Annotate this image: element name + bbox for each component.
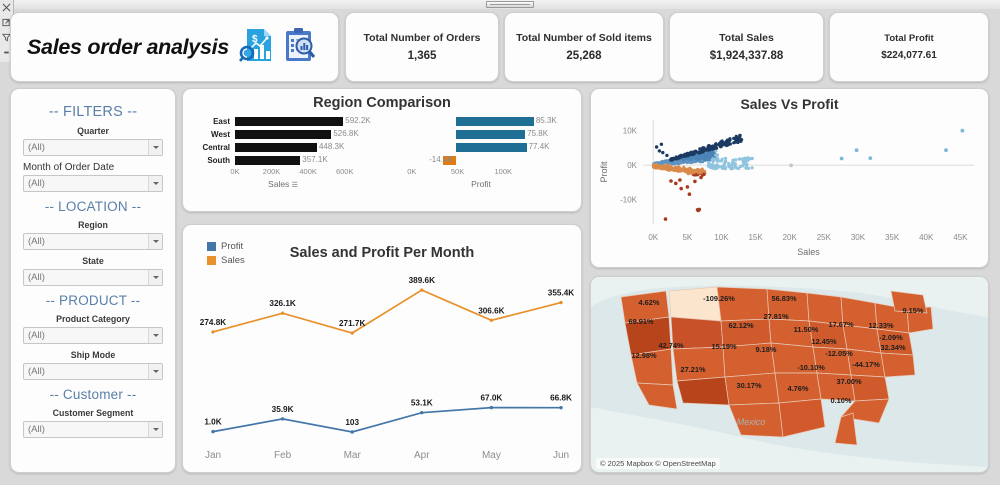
axis-tick: 50K xyxy=(451,167,464,176)
data-point xyxy=(679,187,683,191)
bar-track: 75.8K xyxy=(433,130,573,139)
data-point xyxy=(732,159,735,162)
axis-tick-label: Feb xyxy=(274,450,292,461)
filter-select-state[interactable]: (All) xyxy=(23,269,163,286)
data-point xyxy=(716,157,719,160)
map-value-label: 12.33% xyxy=(868,321,893,330)
y-axis-label: Profit xyxy=(599,161,609,183)
data-point xyxy=(420,411,423,414)
filter-select-month-of-order-date[interactable]: (All) xyxy=(23,175,163,192)
bar-row[interactable]: South 357.1K xyxy=(191,154,375,166)
data-point xyxy=(559,406,562,409)
chevron-down-icon[interactable] xyxy=(148,270,162,285)
kpi-card-sold-items: Total Number of Sold items 25,268 xyxy=(504,12,664,82)
data-point xyxy=(678,178,682,182)
bar-value-label: -14.4K xyxy=(429,155,453,164)
data-point xyxy=(714,154,717,157)
x-axis-tick: 20K xyxy=(783,233,798,242)
map-value-label: 32.34% xyxy=(880,343,905,352)
line-chart-svg: 274.8K326.1K271.7K389.6K306.6K355.4K1.0K… xyxy=(183,261,581,466)
data-point xyxy=(707,163,710,166)
filter-value-customer-segment: (All) xyxy=(28,424,45,435)
data-point xyxy=(711,157,714,160)
filters-panel: -- FILTERS -- Quarter (All) Month of Ord… xyxy=(10,88,176,473)
data-point xyxy=(709,155,712,158)
data-label: 35.9K xyxy=(272,405,294,414)
map-value-label: -44.17% xyxy=(852,360,880,369)
data-point xyxy=(658,149,661,152)
bar-track: 448.3K xyxy=(235,143,375,152)
map-value-label: 69.91% xyxy=(628,317,653,326)
data-point xyxy=(697,172,700,175)
map-value-label: 12.45% xyxy=(811,337,836,346)
data-point xyxy=(728,139,731,142)
data-point xyxy=(944,148,948,152)
map-value-label: 15.19% xyxy=(711,342,736,351)
data-point xyxy=(655,166,658,169)
bar[interactable] xyxy=(456,130,525,139)
data-point xyxy=(669,166,672,169)
bar-track: 77.4K xyxy=(433,143,573,152)
data-point xyxy=(675,155,678,158)
bar-category-label: East xyxy=(191,117,235,126)
bar[interactable] xyxy=(235,130,331,139)
bar-row[interactable]: Central 448.3K xyxy=(191,141,375,153)
x-axis-tick: 5K xyxy=(682,233,692,242)
map-value-label: 4.62% xyxy=(639,298,660,307)
bar[interactable] xyxy=(235,117,343,126)
data-point xyxy=(692,159,695,162)
data-point xyxy=(868,156,872,160)
data-point xyxy=(690,161,693,164)
map-svg: Mexico4.62%-109.26%56.83%69.91%62.12%27.… xyxy=(591,277,988,472)
map-state[interactable] xyxy=(673,347,725,381)
data-point xyxy=(739,134,742,137)
data-point xyxy=(702,153,705,156)
horizontal-scrollbar[interactable] xyxy=(14,0,1000,9)
filter-label-product-category: Product Category xyxy=(23,314,163,324)
filter-select-product-category[interactable]: (All) xyxy=(23,327,163,344)
data-point xyxy=(686,161,689,164)
data-point xyxy=(741,164,744,167)
bar-row[interactable]: -14.4K xyxy=(389,154,573,166)
region-comparison-chart: Region Comparison East 592.2K West 526.8… xyxy=(182,88,582,212)
sales-report-chart-icon: $ xyxy=(239,26,275,69)
data-point xyxy=(674,161,677,164)
line-plot-area: 274.8K326.1K271.7K389.6K306.6K355.4K1.0K… xyxy=(183,261,581,471)
axis-tick: 400K xyxy=(299,167,317,176)
axis-tick-label: Apr xyxy=(414,450,430,461)
data-point xyxy=(685,153,688,156)
data-point xyxy=(723,164,726,167)
filter-label-month-of-order-date: Month of Order Date xyxy=(23,162,163,173)
map-state[interactable] xyxy=(717,287,769,321)
data-point xyxy=(711,146,714,149)
y-axis-tick: 10K xyxy=(623,126,638,135)
data-point xyxy=(703,170,706,173)
x-axis-tick: 45K xyxy=(953,233,968,242)
filter-label-customer-segment: Customer Segment xyxy=(23,408,163,418)
data-label: 355.4K xyxy=(548,289,574,298)
filter-select-customer-segment[interactable]: (All) xyxy=(23,421,163,438)
chevron-down-icon[interactable] xyxy=(148,422,162,437)
scatter-plot-area: 10K0K-10K0K5K10K15K20K25K30K35K40K45KSal… xyxy=(591,112,988,269)
data-point xyxy=(751,166,754,169)
map-value-label: 9.15% xyxy=(903,306,924,315)
chart-title: Region Comparison xyxy=(183,89,581,111)
sales-profit-per-month-chart: Profit Sales Sales and Profit Per Month … xyxy=(182,224,582,473)
map-value-label: -109.26% xyxy=(703,294,735,303)
data-point xyxy=(686,185,690,189)
data-point xyxy=(698,169,701,172)
data-point xyxy=(660,143,663,146)
data-label: 103 xyxy=(345,418,359,427)
data-point xyxy=(737,167,740,170)
map-value-label: -2.09% xyxy=(879,333,903,342)
data-point xyxy=(671,157,674,160)
kpi-value: $1,924,337.88 xyxy=(710,50,784,62)
y-axis-tick: -10K xyxy=(620,196,638,205)
data-point xyxy=(673,169,676,172)
bar-row[interactable]: East 592.2K xyxy=(191,115,375,127)
axis-tick: 0K xyxy=(407,167,416,176)
data-point xyxy=(490,406,493,409)
data-point xyxy=(661,151,664,154)
axis-tick: 200K xyxy=(263,167,281,176)
data-label: 306.6K xyxy=(478,306,504,315)
data-point xyxy=(351,430,354,433)
bar-axis: 0K200K400K600K xyxy=(191,167,375,180)
bar[interactable] xyxy=(235,143,317,152)
bar-track: 526.8K xyxy=(235,130,375,139)
bar-category-label: Central xyxy=(191,143,235,152)
filter-value-ship-mode: (All) xyxy=(28,366,45,377)
data-point xyxy=(677,170,680,173)
map-value-label: 37.00% xyxy=(836,377,861,386)
map-value-label: 9.18% xyxy=(756,345,777,354)
data-point xyxy=(665,167,668,170)
data-point xyxy=(685,170,688,173)
filter-label-state: State xyxy=(23,256,163,266)
data-point xyxy=(734,165,737,168)
bar-value-label: 448.3K xyxy=(319,142,344,151)
data-point xyxy=(669,179,673,183)
data-point xyxy=(739,140,742,143)
data-point xyxy=(751,157,754,160)
axis-tick-label: Jun xyxy=(553,450,569,461)
map-value-label: -10.10% xyxy=(797,363,825,372)
map-state[interactable] xyxy=(677,377,729,405)
sales-vs-profit-chart: Sales Vs Profit 10K0K-10K0K5K10K15K20K25… xyxy=(590,88,989,268)
data-point xyxy=(281,312,284,315)
title-card: Sales order analysis $ xyxy=(10,12,339,82)
bar[interactable] xyxy=(235,156,300,165)
map-value-label: 62.12% xyxy=(728,321,753,330)
kpi-label: Total Number of Sold items xyxy=(516,32,652,44)
data-point xyxy=(699,176,703,180)
bar-track: -14.4K xyxy=(433,156,573,165)
bar-value-label: 526.8K xyxy=(333,129,358,138)
bar-track: 357.1K xyxy=(235,156,375,165)
filter-select-ship-mode[interactable]: (All) xyxy=(23,363,163,380)
kpi-value: 25,268 xyxy=(566,50,601,62)
bar-track: 85.3K xyxy=(433,117,573,126)
data-point xyxy=(700,151,703,154)
map-value-label: 27.81% xyxy=(763,312,788,321)
axis-tick-label: Jan xyxy=(205,450,221,461)
filter-value-region: (All) xyxy=(28,236,45,247)
map-state[interactable] xyxy=(881,353,915,377)
kpi-card-total-sales: Total Sales $1,924,337.88 xyxy=(669,12,824,82)
filter-label-quarter: Quarter xyxy=(23,126,163,136)
map-value-label: 42.74% xyxy=(658,341,683,350)
kpi-value: 1,365 xyxy=(408,50,437,62)
bar-value-label: 85.3K xyxy=(536,116,557,125)
data-point xyxy=(732,141,735,144)
x-axis-tick: 25K xyxy=(817,233,832,242)
data-point xyxy=(701,157,704,160)
data-point xyxy=(746,159,749,162)
bar-row[interactable]: 77.4K xyxy=(389,141,573,153)
sort-icon: ☰ xyxy=(292,182,298,189)
map-value-label: 30.17% xyxy=(736,381,761,390)
map-value-label: 17.67% xyxy=(828,320,853,329)
clipboard-analysis-icon xyxy=(281,26,317,69)
dashboard-app: Sales order analysis $ xyxy=(0,0,1000,485)
chevron-down-icon[interactable] xyxy=(148,328,162,343)
chart-title: Sales and Profit Per Month xyxy=(183,245,581,261)
data-point xyxy=(664,217,668,221)
x-axis-tick: 35K xyxy=(885,233,900,242)
data-point xyxy=(490,319,493,322)
data-point xyxy=(855,148,859,152)
data-label: 53.1K xyxy=(411,399,433,408)
profit-ratio-map[interactable]: Mexico4.62%-109.26%56.83%69.91%62.12%27.… xyxy=(590,276,989,473)
data-point xyxy=(722,141,725,144)
data-point xyxy=(674,182,678,186)
kpi-card-total-profit: Total Profit $224,077.61 xyxy=(829,12,989,82)
map-value-label: 27.21% xyxy=(680,365,705,374)
axis-tick: 0K xyxy=(230,167,239,176)
data-point xyxy=(690,151,693,154)
x-axis-tick: 15K xyxy=(748,233,763,242)
data-label: 326.1K xyxy=(269,299,295,308)
bar-track: 592.2K xyxy=(235,117,375,126)
product-section-heading: -- PRODUCT -- xyxy=(23,293,163,308)
chevron-down-icon[interactable] xyxy=(148,176,162,191)
bar-category-label: South xyxy=(191,156,235,165)
filters-section-heading: -- FILTERS -- xyxy=(23,104,163,120)
data-point xyxy=(689,170,692,173)
series-line-profit xyxy=(213,408,561,432)
axis-tick-label: Mar xyxy=(344,450,362,461)
x-axis-tick: 30K xyxy=(851,233,866,242)
customer-section-heading: -- Customer -- xyxy=(23,387,163,402)
filter-label-ship-mode: Ship Mode xyxy=(23,350,163,360)
region-profit-panel: 85.3K 75.8K 77.4K -14.4K xyxy=(375,115,573,189)
data-label: 271.7K xyxy=(339,319,365,328)
data-label: 274.8K xyxy=(200,318,226,327)
scatter-chart-svg: 10K0K-10K0K5K10K15K20K25K30K35K40K45KSal… xyxy=(591,112,988,264)
data-point xyxy=(724,160,727,163)
data-point xyxy=(735,136,738,139)
map-state[interactable] xyxy=(669,287,721,321)
filter-value-state: (All) xyxy=(28,272,45,283)
data-point xyxy=(720,144,723,147)
data-point xyxy=(789,164,793,168)
filter-value-month-of-order-date: (All) xyxy=(28,178,45,189)
data-point xyxy=(559,301,562,304)
kpi-value: $224,077.61 xyxy=(881,50,937,61)
map-plot-area: Mexico4.62%-109.26%56.83%69.91%62.12%27.… xyxy=(591,277,988,473)
kpi-label: Total Profit xyxy=(884,33,933,44)
data-point xyxy=(420,288,423,291)
scrollbar-thumb[interactable] xyxy=(486,1,534,8)
data-point xyxy=(714,164,717,167)
location-section-heading: -- LOCATION -- xyxy=(23,199,163,214)
y-axis-tick: 0K xyxy=(627,161,637,170)
data-point xyxy=(655,145,658,148)
x-axis-label: Sales xyxy=(797,247,820,257)
map-attribution: © 2025 Mapbox © OpenStreetMap xyxy=(596,458,720,469)
page-title: Sales order analysis xyxy=(27,35,229,60)
data-label: 67.0K xyxy=(480,394,502,403)
bar[interactable] xyxy=(456,143,527,152)
bar-value-label: 357.1K xyxy=(302,155,327,164)
filter-select-region[interactable]: (All) xyxy=(23,233,163,250)
data-point xyxy=(840,157,844,161)
data-point xyxy=(682,154,685,157)
filter-select-quarter[interactable]: (All) xyxy=(23,139,163,156)
axis-tick-label: May xyxy=(482,450,501,461)
kpi-label: Total Sales xyxy=(719,32,774,44)
data-point xyxy=(721,167,724,170)
data-point xyxy=(744,166,747,169)
map-value-label: 0.10% xyxy=(831,396,852,405)
chart-title: Sales Vs Profit xyxy=(591,89,988,112)
data-point xyxy=(700,147,703,150)
kpi-card-total-orders: Total Number of Orders 1,365 xyxy=(345,12,499,82)
chevron-down-icon[interactable] xyxy=(148,140,162,155)
data-point xyxy=(961,129,965,133)
data-point xyxy=(742,157,745,160)
data-point xyxy=(744,162,747,165)
x-axis-tick: 10K xyxy=(714,233,729,242)
map-country-label: Mexico xyxy=(737,417,766,427)
bar-row[interactable]: West 526.8K xyxy=(191,128,375,140)
data-point xyxy=(211,430,214,433)
data-point xyxy=(701,160,704,163)
data-point xyxy=(665,154,668,157)
bar-axis: 0K50K100K xyxy=(389,167,573,180)
kpi-label: Total Number of Orders xyxy=(363,32,480,44)
filter-label-region: Region xyxy=(23,220,163,230)
data-point xyxy=(281,417,284,420)
data-point xyxy=(724,157,727,160)
bar-category-label: West xyxy=(191,130,235,139)
map-value-label: 12.98% xyxy=(631,351,656,360)
data-point xyxy=(693,180,697,184)
data-point xyxy=(681,168,684,171)
bar[interactable] xyxy=(456,117,534,126)
bar-row[interactable]: 85.3K xyxy=(389,115,573,127)
map-value-label: -12.05% xyxy=(825,349,853,358)
axis-tick: 600K xyxy=(336,167,354,176)
data-point xyxy=(717,165,720,168)
data-label: 389.6K xyxy=(409,276,435,285)
map-value-label: 11.50% xyxy=(794,325,819,334)
title-icon-group: $ xyxy=(239,26,317,69)
data-point xyxy=(682,158,685,161)
chevron-down-icon[interactable] xyxy=(148,234,162,249)
axis-label: Sales ☰ xyxy=(191,179,375,189)
series-line-sales xyxy=(213,290,561,333)
data-point xyxy=(675,166,678,169)
data-point xyxy=(721,158,724,161)
x-axis-tick: 40K xyxy=(919,233,934,242)
bar-value-label: 592.2K xyxy=(345,116,370,125)
data-point xyxy=(351,331,354,334)
data-label: 66.8K xyxy=(550,394,572,403)
data-point xyxy=(738,157,741,160)
data-point xyxy=(729,166,732,169)
chevron-down-icon[interactable] xyxy=(148,364,162,379)
bar-value-label: 75.8K xyxy=(527,129,548,138)
bar-row[interactable]: 75.8K xyxy=(389,128,573,140)
close-icon[interactable] xyxy=(2,3,12,13)
data-point xyxy=(697,151,700,154)
data-label: 1.0K xyxy=(204,418,221,427)
x-axis-tick: 0K xyxy=(648,233,658,242)
axis-label: Profit xyxy=(389,179,573,189)
data-point xyxy=(697,209,701,213)
map-value-label: 4.76% xyxy=(788,384,809,393)
bar-value-label: 77.4K xyxy=(529,142,550,151)
data-point xyxy=(211,330,214,333)
data-point xyxy=(726,144,729,147)
data-point xyxy=(659,167,662,170)
data-point xyxy=(657,162,660,165)
data-point xyxy=(688,192,692,196)
region-sales-panel: East 592.2K West 526.8K Central 448.3K xyxy=(191,115,375,189)
filter-value-quarter: (All) xyxy=(28,142,45,153)
axis-tick: 100K xyxy=(495,167,513,176)
filter-value-product-category: (All) xyxy=(28,330,45,341)
map-value-label: 56.83% xyxy=(771,294,796,303)
